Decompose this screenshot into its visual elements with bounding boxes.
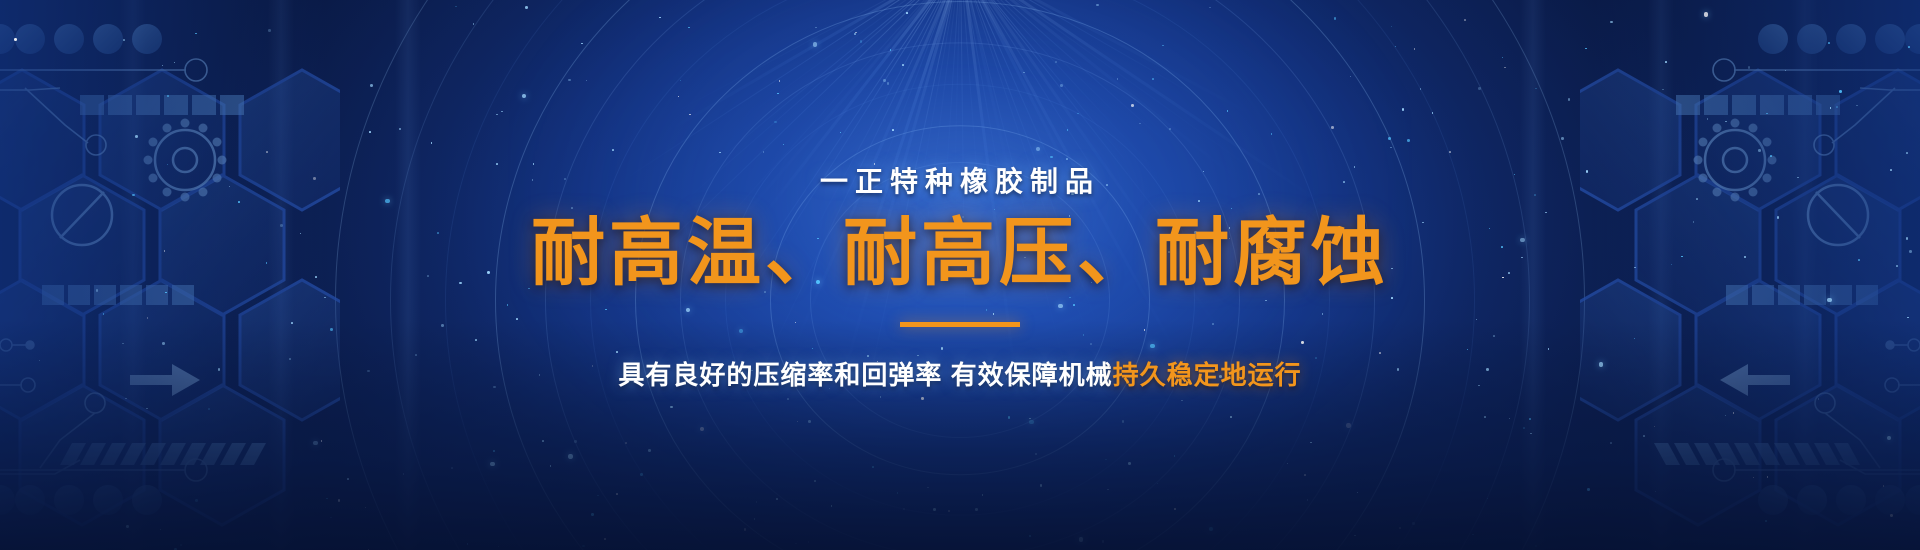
- banner-subtitle: 一正特种橡胶制品: [820, 168, 1100, 196]
- banner-content: 一正特种橡胶制品 耐高温、耐高压、耐腐蚀 具有良好的压缩率和回弹率 有效保障机械…: [0, 0, 1920, 550]
- banner-tagline: 具有良好的压缩率和回弹率 有效保障机械持久稳定地运行: [618, 362, 1301, 388]
- hero-banner: 一正特种橡胶制品 耐高温、耐高压、耐腐蚀 具有良好的压缩率和回弹率 有效保障机械…: [0, 0, 1920, 550]
- tagline-orange-text: 持久稳定地运行: [1113, 360, 1302, 390]
- tagline-white-text: 具有良好的压缩率和回弹率 有效保障机械: [618, 360, 1112, 390]
- banner-headline: 耐高温、耐高压、耐腐蚀: [531, 214, 1389, 292]
- orange-divider: [900, 322, 1020, 327]
